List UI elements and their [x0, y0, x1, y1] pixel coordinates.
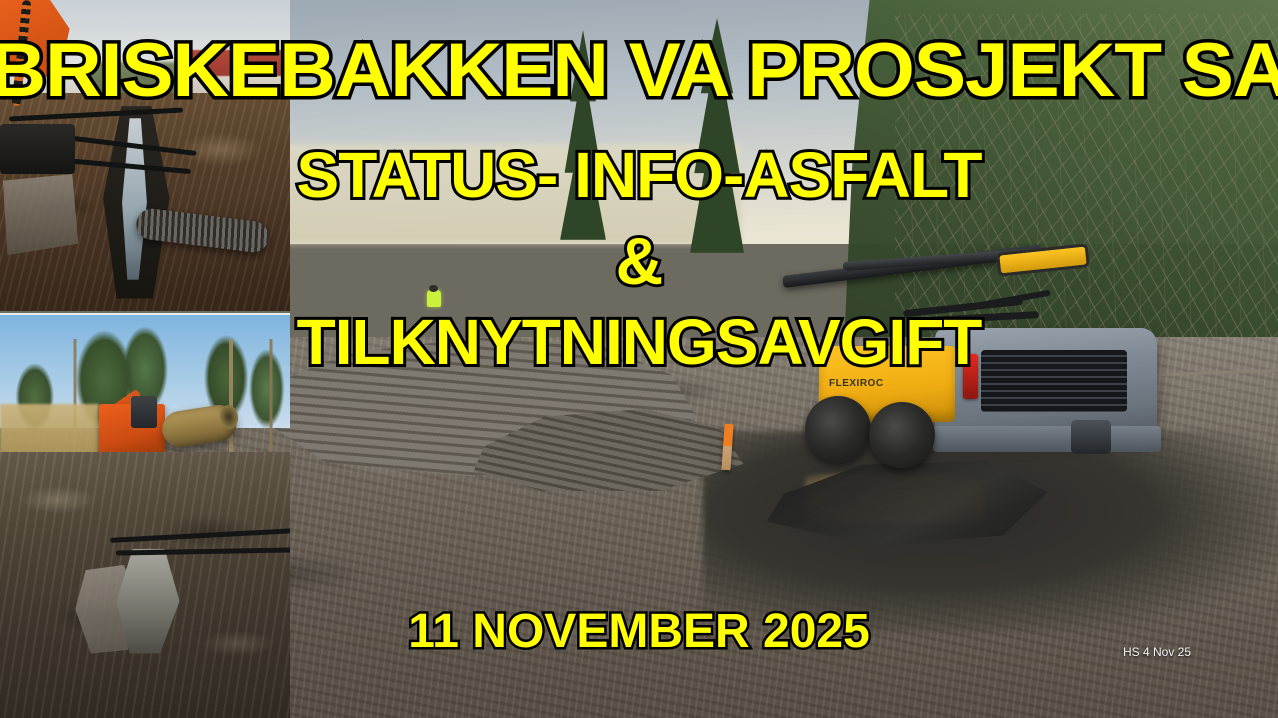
slide-subtitle-line-1: STATUS- INFO-ASFALT [297, 143, 982, 207]
rig-radiator-grille [981, 350, 1127, 412]
rig-rear-bumper [933, 426, 1161, 452]
inset2-excavator-cab [131, 396, 157, 428]
slide-date: 11 NOVEMBER 2025 [408, 608, 870, 656]
rig-wheel-rear [869, 402, 935, 468]
rig-wheel-front [805, 396, 871, 462]
rig-winch [1071, 420, 1111, 454]
presentation-slide: FLEXIROC [0, 0, 1278, 718]
inset1-concrete-block [3, 174, 78, 255]
photo-watermark: HS 4 Nov 25 [1123, 645, 1191, 659]
inset1-excavator-track [0, 124, 75, 174]
slide-subtitle-ampersand: & [616, 228, 663, 294]
slide-subtitle-line-2: TILKNYTNINGSAVGIFT [297, 310, 982, 374]
slide-title: BRISKEBAKKEN VA PROSJEKT SA [0, 33, 1278, 109]
inset-photo-excavator-pipe [0, 313, 290, 718]
hi-vis-worker [427, 290, 441, 307]
rig-brand-label: FLEXIROC [829, 378, 949, 389]
